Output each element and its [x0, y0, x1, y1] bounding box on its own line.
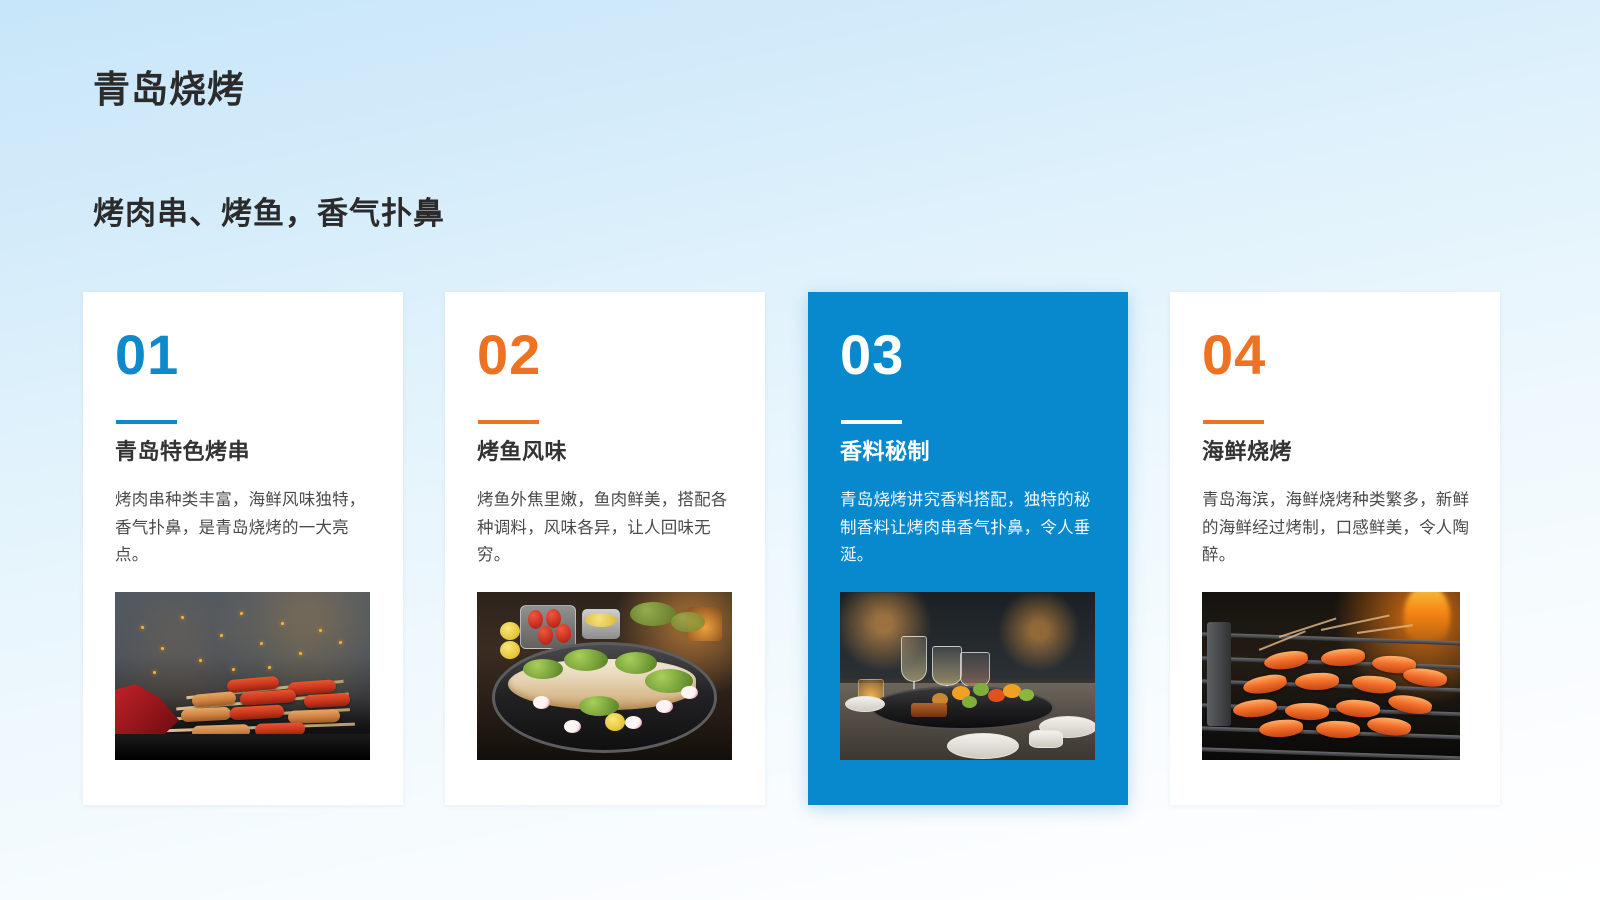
- card-divider-01: [116, 420, 177, 424]
- card-description-02: 烤鱼外焦里嫩，鱼肉鲜美，搭配各种调料，风味各异，让人回味无穷。: [477, 487, 739, 570]
- card-image-02: [477, 592, 732, 760]
- card-divider-03: [841, 420, 902, 424]
- page-subtitle: 烤肉串、烤鱼，香气扑鼻: [93, 194, 445, 234]
- card-image-01: [115, 592, 370, 760]
- card-divider-04: [1203, 420, 1264, 424]
- card-number-02: 02: [477, 327, 541, 383]
- card-description-03: 青岛烧烤讲究香料搭配，独特的秘制香料让烤肉串香气扑鼻，令人垂涎。: [840, 487, 1102, 570]
- card-number-04: 04: [1202, 327, 1266, 383]
- card-image-03: [840, 592, 1095, 760]
- card-title-01: 青岛特色烤串: [115, 438, 250, 467]
- card-number-01: 01: [115, 327, 179, 383]
- card-number-03: 03: [840, 327, 904, 383]
- card-title-03: 香料秘制: [840, 438, 930, 467]
- feature-card-04[interactable]: 04 海鲜烧烤 青岛海滨，海鲜烧烤种类繁多，新鲜的海鲜经过烤制，口感鲜美，令人陶…: [1170, 292, 1500, 805]
- feature-card-02[interactable]: 02 烤鱼风味 烤鱼外焦里嫩，鱼肉鲜美，搭配各种调料，风味各异，让人回味无穷。: [445, 292, 765, 805]
- card-description-04: 青岛海滨，海鲜烧烤种类繁多，新鲜的海鲜经过烤制，口感鲜美，令人陶醉。: [1202, 487, 1470, 570]
- card-image-04: [1202, 592, 1460, 760]
- feature-card-03[interactable]: 03 香料秘制 青岛烧烤讲究香料搭配，独特的秘制香料让烤肉串香气扑鼻，令人垂涎。: [808, 292, 1128, 805]
- card-title-02: 烤鱼风味: [477, 438, 567, 467]
- feature-card-01[interactable]: 01 青岛特色烤串 烤肉串种类丰富，海鲜风味独特，香气扑鼻，是青岛烧烤的一大亮点…: [83, 292, 403, 805]
- card-description-01: 烤肉串种类丰富，海鲜风味独特，香气扑鼻，是青岛烧烤的一大亮点。: [115, 487, 377, 570]
- card-divider-02: [478, 420, 539, 424]
- card-title-04: 海鲜烧烤: [1202, 438, 1292, 467]
- page-title: 青岛烧烤: [93, 68, 245, 112]
- feature-card-list: 01 青岛特色烤串 烤肉串种类丰富，海鲜风味独特，香气扑鼻，是青岛烧烤的一大亮点…: [83, 292, 1513, 807]
